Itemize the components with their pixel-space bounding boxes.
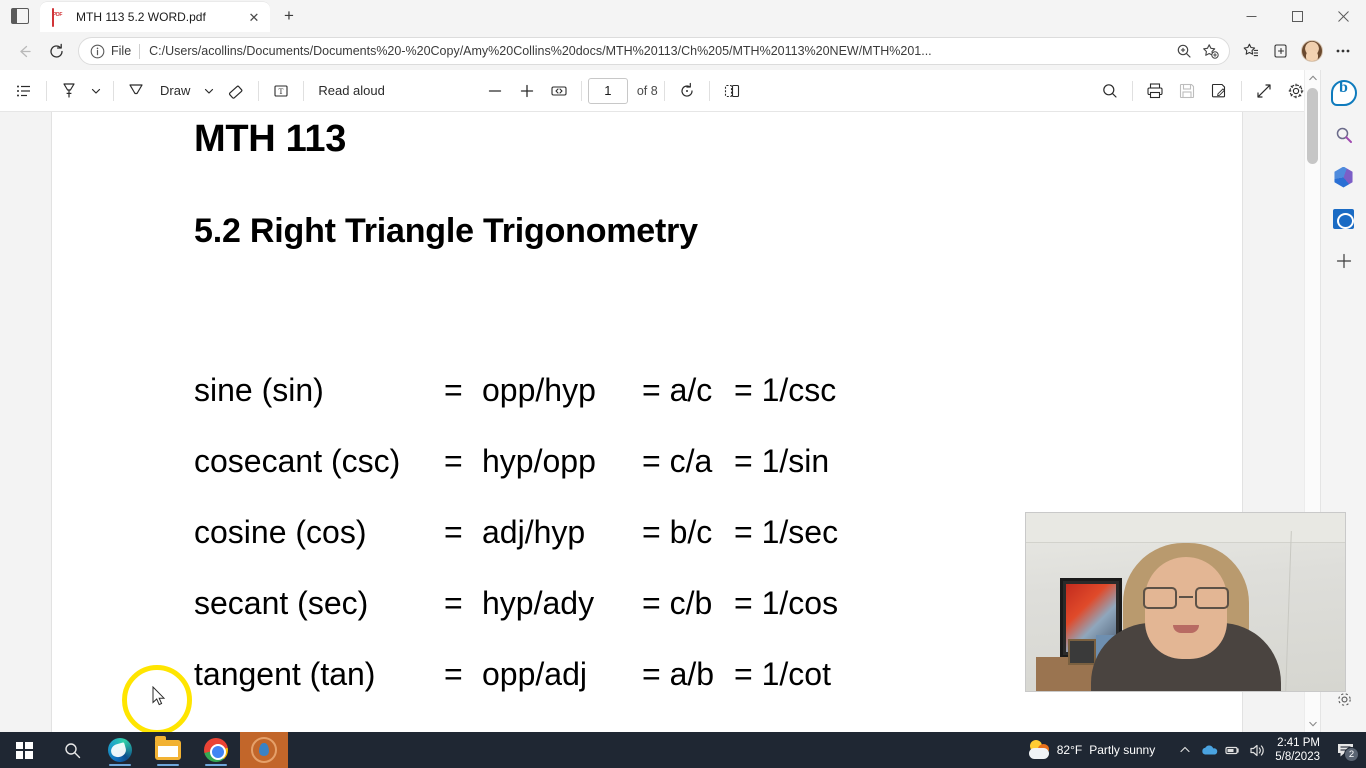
sidebar-item-outlook[interactable] [1327, 202, 1361, 236]
formula-reciprocal: = 1/sec [734, 514, 838, 551]
toolbar-divider [709, 81, 710, 101]
pdf-toolbar: Draw T Read aloud 1 of 8 [0, 70, 1320, 112]
taskbar-item-search[interactable] [48, 732, 96, 768]
favorites-list-icon[interactable] [1236, 36, 1266, 66]
rotate-icon[interactable] [671, 76, 703, 106]
bing-discover-icon [1331, 80, 1357, 106]
draw-chevron-down-icon[interactable] [198, 76, 220, 106]
weather-widget[interactable]: 82°F Partly sunny [1028, 740, 1156, 760]
collections-icon[interactable] [1266, 36, 1296, 66]
mouse-cursor-icon [152, 686, 166, 707]
omnibox-divider [139, 44, 140, 59]
tab-actions-button[interactable] [0, 0, 40, 32]
webcam-self-view[interactable] [1025, 512, 1346, 692]
toolbar-divider [46, 81, 47, 101]
save-as-icon[interactable] [1203, 76, 1235, 106]
url-text[interactable]: C:/Users/acollins/Documents/Documents%20… [149, 44, 1171, 58]
tab-actions-icon [11, 8, 29, 24]
toolbar-divider [1241, 81, 1242, 101]
close-window-button[interactable] [1320, 0, 1366, 32]
formula-list: sine (sin) = opp/hyp = a/c = 1/csc cosec… [194, 372, 1094, 727]
back-button[interactable] [8, 36, 40, 66]
webcam-person-mouth [1173, 625, 1199, 633]
title-bar: MTH 113 5.2 WORD.pdf ✕ + [0, 0, 1366, 32]
toolbar-divider [113, 81, 114, 101]
search-icon[interactable] [1094, 76, 1126, 106]
webcam-ceiling [1026, 513, 1345, 543]
edge-icon [108, 738, 132, 762]
sidebar-item-add[interactable] [1327, 244, 1361, 278]
tab-title: MTH 113 5.2 WORD.pdf [76, 10, 244, 24]
clock-time: 2:41 PM [1275, 736, 1320, 750]
formula-row: tangent (tan) = opp/adj = a/b = 1/cot [194, 656, 1094, 727]
formula-sides: = a/b [642, 656, 734, 693]
folder-icon [155, 740, 181, 760]
new-tab-button[interactable]: + [274, 1, 304, 31]
formula-name: secant (sec) [194, 585, 444, 622]
sidebar-item-office[interactable] [1327, 160, 1361, 194]
scroll-up-arrow-icon[interactable] [1305, 70, 1321, 86]
formula-ratio: opp/hyp [482, 372, 642, 409]
sidebar-item-search[interactable] [1327, 118, 1361, 152]
close-icon[interactable]: ✕ [244, 7, 264, 27]
highlight-chevron-down-icon[interactable] [85, 76, 107, 106]
weather-temperature: 82°F [1057, 743, 1082, 757]
system-tray: 82°F Partly sunny 2:41 PM 5/8/2023 [1028, 732, 1366, 768]
tray-expand-chevron-icon[interactable] [1173, 732, 1197, 768]
fit-to-width-icon[interactable] [543, 76, 575, 106]
chrome-icon [204, 738, 228, 762]
print-icon[interactable] [1139, 76, 1171, 106]
plus-icon [1336, 253, 1352, 269]
formula-reciprocal: = 1/cos [734, 585, 838, 622]
notification-count-badge: 2 [1344, 747, 1359, 762]
page-number-input[interactable]: 1 [588, 78, 628, 104]
formula-name: cosecant (csc) [194, 443, 444, 480]
toolbar-divider [303, 81, 304, 101]
clock-date: 5/8/2023 [1275, 750, 1320, 764]
info-circle-icon[interactable] [89, 43, 106, 60]
formula-name: cosine (cos) [194, 514, 444, 551]
toolbar-divider [1132, 81, 1133, 101]
webcam-photo-frame [1068, 639, 1096, 665]
star-plus-icon[interactable] [1197, 38, 1223, 64]
browser-window: MTH 113 5.2 WORD.pdf ✕ + [0, 0, 1366, 768]
draw-icon[interactable] [120, 76, 152, 106]
formula-eq: = [444, 585, 482, 622]
svg-text:T: T [279, 87, 284, 96]
zoom-magnifier-icon[interactable] [1171, 38, 1197, 64]
taskbar-item-google-chrome[interactable] [192, 732, 240, 768]
pdf-icon [52, 9, 68, 25]
draw-label[interactable]: Draw [152, 83, 198, 98]
formula-reciprocal: = 1/sin [734, 443, 829, 480]
formula-sides: = a/c [642, 372, 734, 409]
formula-eq: = [444, 656, 482, 693]
gear-icon [1335, 690, 1354, 709]
refresh-button[interactable] [40, 36, 72, 66]
formula-row: cosine (cos) = adj/hyp = b/c = 1/sec [194, 514, 1094, 585]
formula-eq: = [444, 514, 482, 551]
save-icon[interactable] [1171, 76, 1203, 106]
formula-eq: = [444, 443, 482, 480]
profile-avatar-icon[interactable] [1296, 36, 1328, 66]
formula-ratio: adj/hyp [482, 514, 642, 551]
page-layout-icon[interactable] [716, 76, 748, 106]
formula-row: cosecant (csc) = hyp/opp = c/a = 1/sin [194, 443, 1094, 514]
search-icon [63, 741, 82, 760]
scroll-down-arrow-icon[interactable] [1305, 716, 1321, 732]
running-indicator [109, 764, 131, 767]
running-indicator [157, 764, 179, 767]
formula-ratio: opp/adj [482, 656, 642, 693]
windows-taskbar: 82°F Partly sunny 2:41 PM 5/8/2023 [0, 732, 1366, 768]
zoom-in-button[interactable] [511, 76, 543, 106]
formula-ratio: hyp/ady [482, 585, 642, 622]
zoom-out-button[interactable] [479, 76, 511, 106]
camera-app-icon [251, 737, 277, 763]
table-of-contents-button[interactable] [8, 76, 40, 106]
toolbar-divider [581, 81, 582, 101]
formula-eq: = [444, 372, 482, 409]
formula-reciprocal: = 1/cot [734, 656, 831, 693]
formula-name: tangent (tan) [194, 656, 444, 693]
read-aloud-button[interactable]: Read aloud [310, 83, 393, 98]
sidebar-item-bing-chat[interactable] [1327, 76, 1361, 110]
speaker-icon[interactable] [1245, 732, 1269, 768]
fullscreen-icon[interactable] [1248, 76, 1280, 106]
toolbar-divider [664, 81, 665, 101]
url-scheme-label: File [111, 44, 131, 58]
document-heading-section: 5.2 Right Triangle Trigonometry [194, 212, 698, 251]
microsoft-365-icon [1333, 167, 1354, 188]
formula-sides: = b/c [642, 514, 734, 551]
navigation-bar: File C:/Users/acollins/Documents/Documen… [0, 32, 1366, 70]
running-indicator [205, 764, 227, 767]
document-heading-course: MTH 113 [194, 118, 346, 161]
add-text-icon[interactable]: T [265, 76, 297, 106]
page-total-label: of 8 [637, 84, 658, 98]
maximize-button[interactable] [1274, 0, 1320, 32]
outlook-icon [1333, 209, 1354, 229]
formula-reciprocal: = 1/csc [734, 372, 836, 409]
minimize-button[interactable] [1228, 0, 1274, 32]
webcam-person-glasses [1143, 587, 1229, 609]
taskbar-item-start[interactable] [0, 732, 48, 768]
search-magnifier-icon [1334, 125, 1354, 145]
omnibox-actions [1171, 38, 1223, 64]
taskbar-clock[interactable]: 2:41 PM 5/8/2023 [1269, 736, 1328, 764]
highlight-button[interactable] [53, 76, 85, 106]
address-bar[interactable]: File C:/Users/acollins/Documents/Documen… [78, 37, 1230, 65]
taskbar-item-file-explorer[interactable] [144, 732, 192, 768]
sun-cloud-icon [1028, 740, 1050, 760]
formula-sides: = c/a [642, 443, 734, 480]
window-controls [1228, 0, 1366, 32]
browser-tab[interactable]: MTH 113 5.2 WORD.pdf ✕ [40, 2, 270, 32]
formula-name: sine (sin) [194, 372, 444, 409]
windows-logo-icon [16, 742, 33, 759]
formula-sides: = c/b [642, 585, 734, 622]
scrollbar-thumb[interactable] [1307, 88, 1318, 164]
taskbar-item-screen-recorder[interactable] [240, 732, 288, 768]
network-icon[interactable] [1221, 732, 1245, 768]
formula-ratio: hyp/opp [482, 443, 642, 480]
more-ellipsis-icon[interactable] [1328, 36, 1358, 66]
weather-description: Partly sunny [1089, 743, 1155, 757]
notification-center-button[interactable]: 2 [1328, 732, 1362, 768]
eraser-icon[interactable] [220, 76, 252, 106]
taskbar-item-microsoft-edge[interactable] [96, 732, 144, 768]
onedrive-cloud-icon[interactable] [1197, 732, 1221, 768]
toolbar-divider [258, 81, 259, 101]
formula-row: sine (sin) = opp/hyp = a/c = 1/csc [194, 372, 1094, 443]
formula-row: secant (sec) = hyp/ady = c/b = 1/cos [194, 585, 1094, 656]
